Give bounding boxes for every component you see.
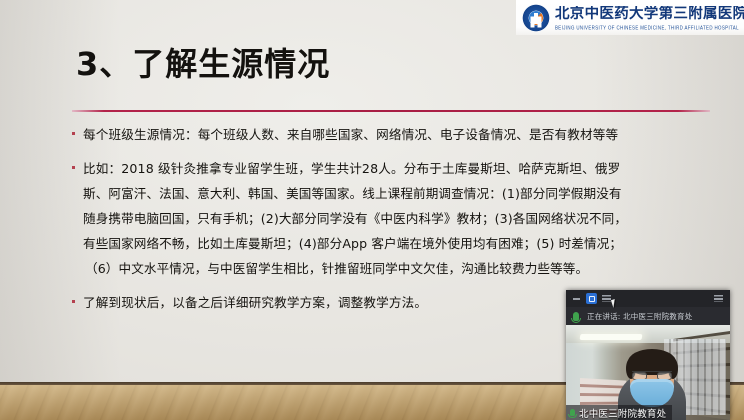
- bullet-2-line-3: 随身携带电脑回国，只有手机；(2)大部分同学没有《中医内科学》教材；(3)各国网…: [72, 206, 712, 231]
- hospital-cross-logo-icon: [522, 4, 550, 32]
- video-person-glasses: [632, 371, 672, 379]
- menu-icon[interactable]: [713, 293, 724, 304]
- microphone-icon: [573, 312, 579, 321]
- bullet-marker-icon: [72, 300, 75, 303]
- speaking-status-label: 正在讲话: 北中医三附院教育处: [587, 311, 692, 322]
- page-title: 3、了解生源情况: [76, 39, 330, 85]
- bullet-3-line-1: 了解到现状后，以备之后详细研究教学方案，调整教学方法。: [83, 290, 427, 315]
- bullet-1-line-1: 每个班级生源情况：每个班级人数、来自哪些国家、网络情况、电子设备情况、是否有教材…: [83, 122, 618, 147]
- maximize-icon[interactable]: [586, 293, 597, 304]
- speaking-status-bar: 正在讲话: 北中医三附院教育处: [566, 307, 730, 325]
- slide-body: 每个班级生源情况：每个班级人数、来自哪些国家、网络情况、电子设备情况、是否有教材…: [72, 122, 712, 315]
- title-divider: [72, 110, 710, 112]
- microphone-icon: [570, 409, 575, 416]
- list-icon[interactable]: [601, 293, 612, 304]
- bullet-2-line-2: 斯、阿富汗、法国、意大利、韩国、美国等国家。线上课程前期调查情况：(1)部分同学…: [72, 181, 712, 206]
- participant-name-label: 北中医三附院教育处: [579, 406, 666, 420]
- bullet-2-line-1: 比如：2018 级针灸推拿专业留学生班，学生共计28人。分布于土库曼斯坦、哈萨克…: [83, 156, 620, 181]
- bullet-marker-icon: [72, 132, 75, 135]
- bullet-2-line-5: （6）中文水平情况，与中医留学生相比，针推留班同学中文欠佳，沟通比较费力些等等。: [72, 256, 712, 281]
- participant-name-bar: 北中医三附院教育处: [566, 405, 672, 420]
- hospital-logo-text: 北京中医药大学第三附属医院 BEIJING UNIVERSITY OF CHIN…: [555, 6, 744, 30]
- bullet-marker-icon: [72, 166, 75, 169]
- bullet-item-1: 每个班级生源情况：每个班级人数、来自哪些国家、网络情况、电子设备情况、是否有教材…: [72, 122, 712, 147]
- mouse-cursor-icon: [611, 298, 620, 308]
- video-panel-titlebar[interactable]: [566, 290, 730, 307]
- slide-screen: 北京中医药大学第三附属医院 BEIJING UNIVERSITY OF CHIN…: [0, 0, 744, 420]
- hospital-name-cn: 北京中医药大学第三附属医院: [555, 6, 744, 23]
- hospital-name-en: BEIJING UNIVERSITY OF CHINESE MEDICINE, …: [555, 23, 744, 30]
- minimize-icon[interactable]: [571, 293, 582, 304]
- hospital-logo: 北京中医药大学第三附属医院 BEIJING UNIVERSITY OF CHIN…: [516, 0, 744, 35]
- bullet-2-line-4: 有些国家网络不畅，比如土库曼斯坦；(4)部分App 客户端在境外使用均有困难；(…: [72, 231, 712, 256]
- video-conference-panel[interactable]: 正在讲话: 北中医三附院教育处 北中医三附院教育处: [566, 290, 730, 420]
- participant-video-tile[interactable]: 北中医三附院教育处: [566, 325, 730, 420]
- bullet-item-2: 比如：2018 级针灸推拿专业留学生班，学生共计28人。分布于土库曼斯坦、哈萨克…: [72, 156, 712, 181]
- video-ceiling-light: [580, 334, 643, 340]
